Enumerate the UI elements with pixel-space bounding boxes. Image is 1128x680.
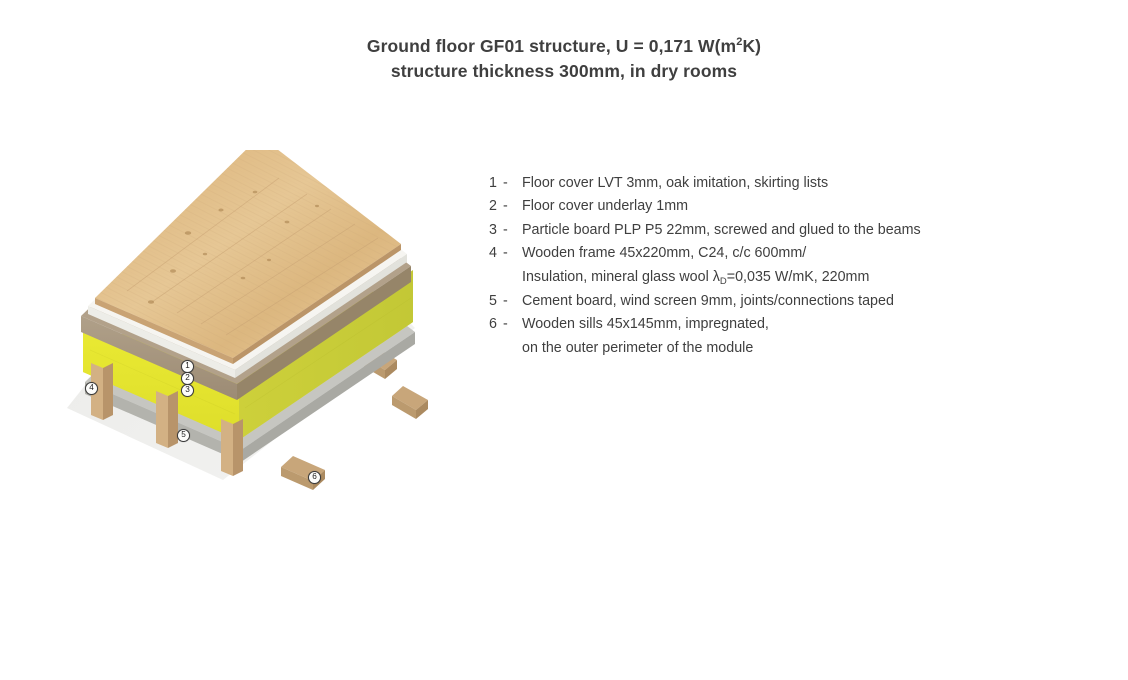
callout-marker-2-label: 2	[185, 374, 190, 382]
callout-marker-6-label: 6	[312, 473, 317, 481]
legend-item-4-dash: -	[503, 242, 522, 265]
legend-item-6-dash: -	[503, 313, 522, 336]
floor-structure-3d-model: 1 2 3 4 5 6	[55, 150, 435, 510]
legend-item-6-text: Wooden sills 45x145mm, impregnated,	[522, 313, 769, 336]
legend-item-6-continuation: on the outer perimeter of the module	[489, 337, 1029, 360]
title-line-1: Ground floor GF01 structure, U = 0,171 W…	[0, 34, 1128, 59]
insulation-text-pre: Insulation, mineral glass wool λ	[522, 269, 720, 285]
legend-item-4-continuation-text: Insulation, mineral glass wool λD=0,035 …	[522, 266, 869, 290]
legend-item-3-text: Particle board PLP P5 22mm, screwed and …	[522, 219, 921, 242]
wooden-frame-post-2	[156, 391, 178, 448]
callout-marker-4-label: 4	[89, 384, 94, 392]
legend-list: 1 - Floor cover LVT 3mm, oak imitation, …	[489, 172, 1029, 360]
legend-item-4-number: 4	[489, 242, 503, 265]
callout-marker-6: 6	[308, 471, 321, 484]
callout-marker-3-label: 3	[185, 386, 190, 394]
callout-marker-3: 3	[181, 384, 194, 397]
wooden-sill-right-lower	[392, 386, 428, 419]
wooden-frame-post-3	[221, 419, 243, 476]
legend-item-2-text: Floor cover underlay 1mm	[522, 195, 688, 218]
legend-item-5-dash: -	[503, 290, 522, 313]
legend-item-3: 3 - Particle board PLP P5 22mm, screwed …	[489, 219, 1029, 242]
legend-item-1-number: 1	[489, 172, 503, 195]
legend-item-6-continuation-text: on the outer perimeter of the module	[522, 337, 753, 360]
legend-item-1: 1 - Floor cover LVT 3mm, oak imitation, …	[489, 172, 1029, 195]
legend-item-1-text: Floor cover LVT 3mm, oak imitation, skir…	[522, 172, 828, 195]
legend-item-2: 2 - Floor cover underlay 1mm	[489, 195, 1029, 218]
callout-marker-1-label: 1	[185, 362, 190, 370]
title-line-2: structure thickness 300mm, in dry rooms	[0, 59, 1128, 84]
insulation-text-post: =0,035 W/mK, 220mm	[727, 269, 870, 285]
legend-item-5-number: 5	[489, 290, 503, 313]
callout-marker-4: 4	[85, 382, 98, 395]
legend-item-5: 5 - Cement board, wind screen 9mm, joint…	[489, 290, 1029, 313]
legend-item-5-text: Cement board, wind screen 9mm, joints/co…	[522, 290, 894, 313]
lambda-subscript: D	[720, 276, 727, 287]
callout-marker-5: 5	[177, 429, 190, 442]
callout-marker-5-label: 5	[181, 431, 186, 439]
title-line-1-post: K)	[742, 36, 761, 56]
legend-item-3-number: 3	[489, 219, 503, 242]
legend-item-6-number: 6	[489, 313, 503, 336]
title-line-1-pre: Ground floor GF01 structure, U = 0,171 W…	[367, 36, 736, 56]
legend-item-1-dash: -	[503, 172, 522, 195]
legend-item-2-number: 2	[489, 195, 503, 218]
legend-item-4-text: Wooden frame 45x220mm, C24, c/c 600mm/	[522, 242, 806, 265]
page-title: Ground floor GF01 structure, U = 0,171 W…	[0, 34, 1128, 84]
slide-canvas: Ground floor GF01 structure, U = 0,171 W…	[0, 0, 1128, 680]
legend-item-4-continuation: Insulation, mineral glass wool λD=0,035 …	[489, 266, 1029, 290]
legend-item-6: 6 - Wooden sills 45x145mm, impregnated,	[489, 313, 1029, 336]
legend-item-3-dash: -	[503, 219, 522, 242]
legend-item-2-dash: -	[503, 195, 522, 218]
legend-item-4: 4 - Wooden frame 45x220mm, C24, c/c 600m…	[489, 242, 1029, 265]
